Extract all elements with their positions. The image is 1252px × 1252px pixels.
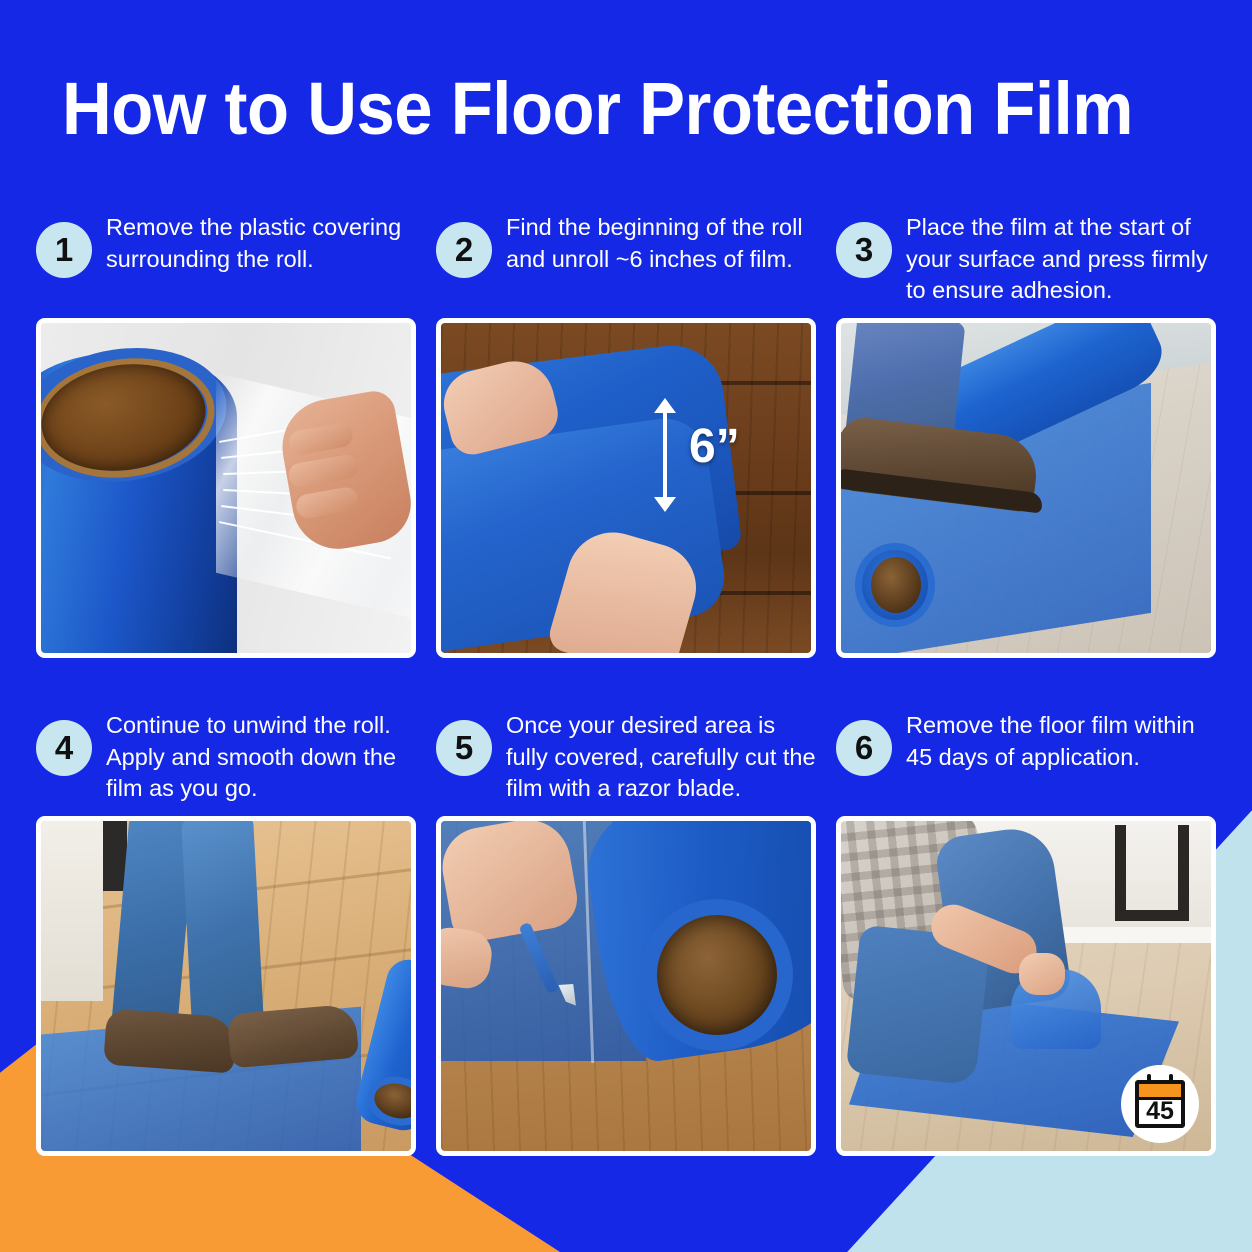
step-3-header: 3 Place the film at the start of your su… <box>836 210 1216 318</box>
step-card-4: 4 Continue to unwind the roll. Apply and… <box>36 708 416 1156</box>
photo6-hand <box>1019 953 1065 995</box>
step-image-3 <box>836 318 1216 658</box>
step-image-2: 6” <box>436 318 816 658</box>
step-number-badge-2: 2 <box>436 222 492 278</box>
step-number-badge-1: 1 <box>36 222 92 278</box>
step-6-header: 6 Remove the floor film within 45 days o… <box>836 708 1216 816</box>
step-card-6: 6 Remove the floor film within 45 days o… <box>836 708 1216 1156</box>
step-image-6: 45 <box>836 816 1216 1156</box>
step-card-3: 3 Place the film at the start of your su… <box>836 210 1216 658</box>
calendar-icon: 45 <box>1135 1080 1185 1128</box>
photo4-right-boot <box>227 1004 359 1069</box>
step-4-header: 4 Continue to unwind the roll. Apply and… <box>36 708 416 816</box>
photo2-measure-label: 6” <box>689 419 740 474</box>
photo2-measure-arrow <box>663 411 667 499</box>
step-image-5 <box>436 816 816 1156</box>
step-number-badge-5: 5 <box>436 720 492 776</box>
step-description-3: Place the film at the start of your surf… <box>906 210 1216 307</box>
photo4-wall <box>41 821 103 1001</box>
step-description-6: Remove the floor film within 45 days of … <box>906 708 1216 773</box>
steps-grid: 1 Remove the plastic covering surroundin… <box>36 210 1216 1156</box>
photo3-roll-core-hole <box>871 557 921 613</box>
step-2-header: 2 Find the beginning of the roll and unr… <box>436 210 816 318</box>
step-number-badge-3: 3 <box>836 222 892 278</box>
photo6-table-leg <box>1115 825 1189 921</box>
page-title: How to Use Floor Protection Film <box>62 72 1113 146</box>
step-description-5: Once your desired area is fully covered,… <box>506 708 816 805</box>
calendar-badge: 45 <box>1121 1065 1199 1143</box>
step-description-2: Find the beginning of the roll and unrol… <box>506 210 816 275</box>
step-card-5: 5 Once your desired area is fully covere… <box>436 708 816 1156</box>
step-number-badge-6: 6 <box>836 720 892 776</box>
step-description-1: Remove the plastic covering surrounding … <box>106 210 416 275</box>
photo4-left-boot <box>103 1009 237 1074</box>
infographic-poster: How to Use Floor Protection Film 1 Remov… <box>0 0 1252 1252</box>
step-image-1 <box>36 318 416 658</box>
calendar-body: 45 <box>1135 1080 1185 1128</box>
step-description-4: Continue to unwind the roll. Apply and s… <box>106 708 416 805</box>
step-1-header: 1 Remove the plastic covering surroundin… <box>36 210 416 318</box>
step-card-2: 2 Find the beginning of the roll and unr… <box>436 210 816 658</box>
photo5-roll-core <box>641 899 793 1051</box>
calendar-day-number: 45 <box>1139 1098 1181 1124</box>
step-5-header: 5 Once your desired area is fully covere… <box>436 708 816 816</box>
step-card-1: 1 Remove the plastic covering surroundin… <box>36 210 416 658</box>
step-number-badge-4: 4 <box>36 720 92 776</box>
step-image-4 <box>36 816 416 1156</box>
